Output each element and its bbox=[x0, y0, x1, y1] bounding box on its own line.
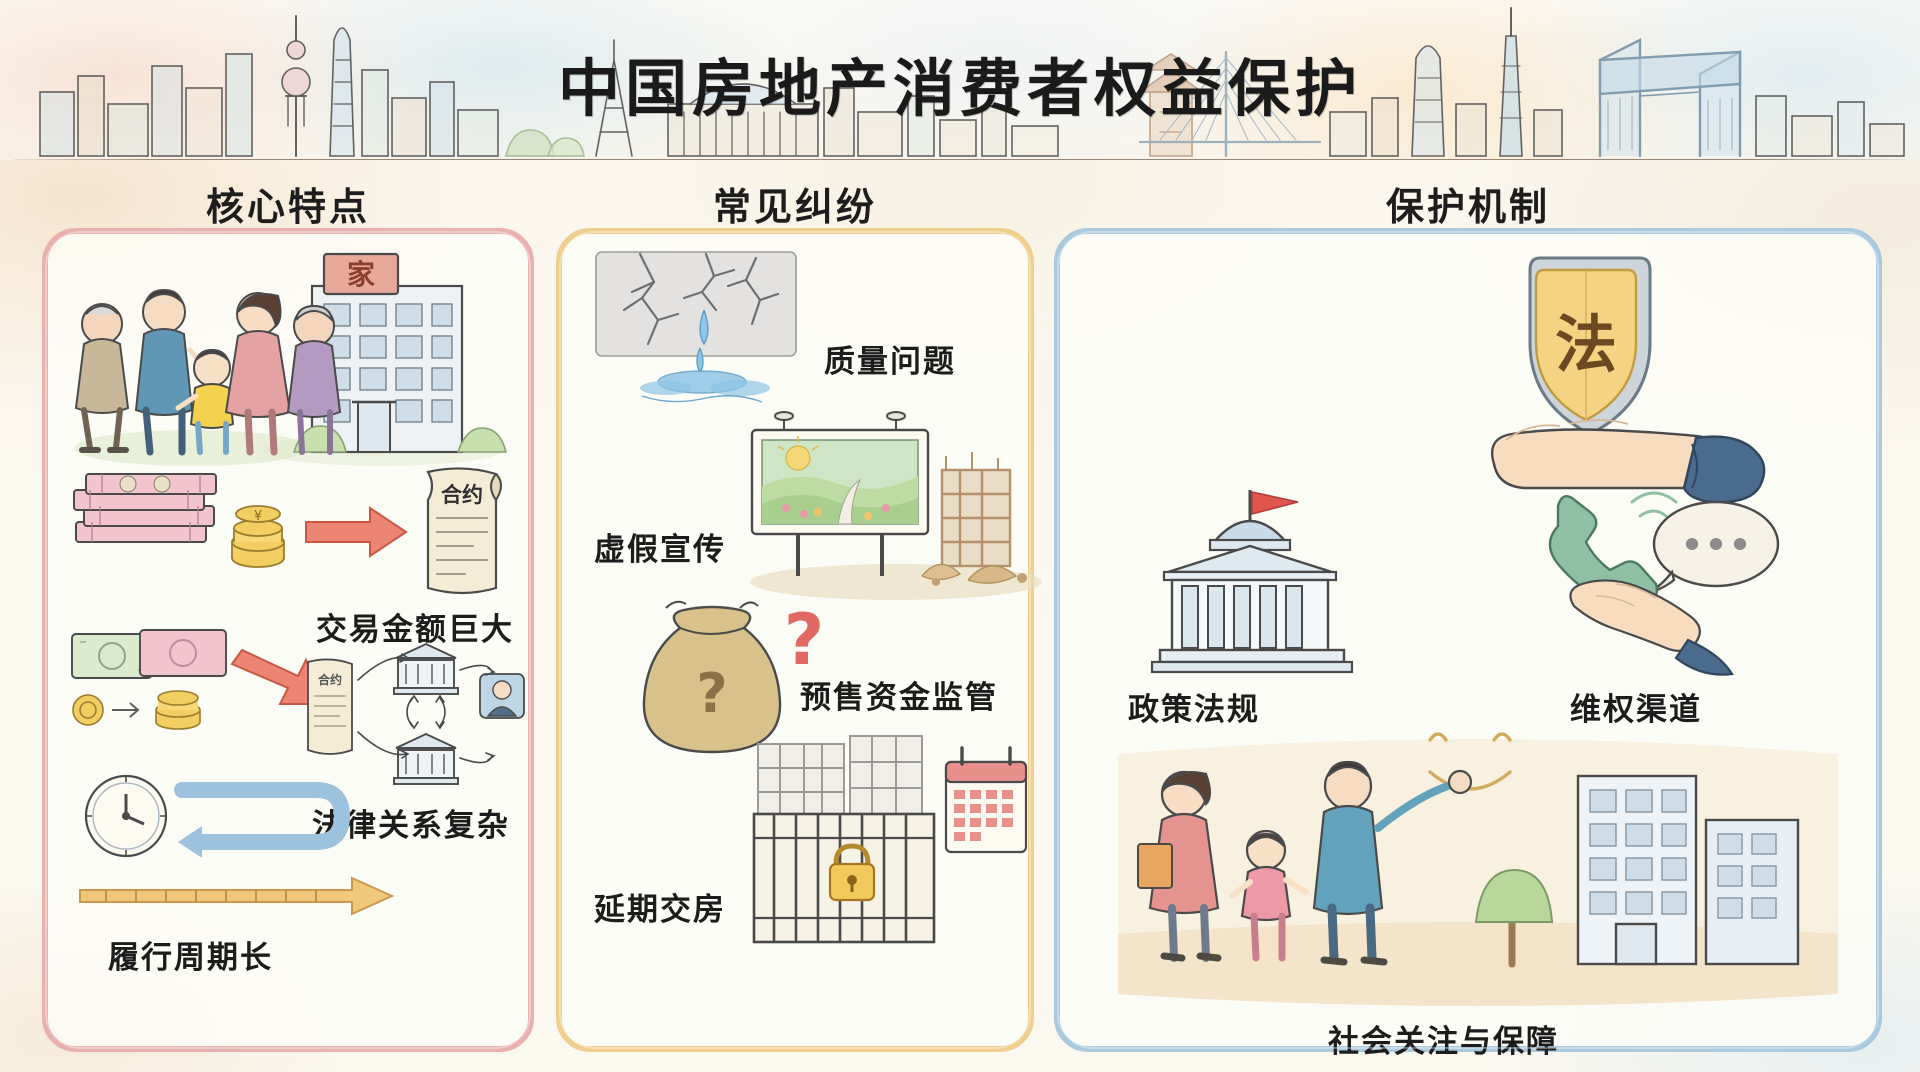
contract-scroll-text: 合约 bbox=[441, 483, 483, 507]
svg-text:¥: ¥ bbox=[254, 509, 262, 524]
panel-common-disputes: 质量问题 虚假宣传 bbox=[556, 228, 1034, 1052]
dispute-label-1: 虚假宣传 bbox=[594, 524, 726, 569]
holding-hand-icon bbox=[1570, 580, 1732, 674]
government-building-illustration bbox=[1116, 484, 1386, 684]
dispute-label-0: 质量问题 bbox=[824, 336, 956, 381]
shield-character: 法 bbox=[1555, 308, 1617, 381]
timeline-ruler bbox=[80, 878, 392, 914]
dispute-label-3: 延期交房 bbox=[594, 884, 726, 929]
infographic-page: 中国房地产消费者权益保护 核心特点 家 bbox=[0, 0, 1920, 1072]
hotline-phone-illustration bbox=[1520, 488, 1810, 688]
content-board: 核心特点 家 bbox=[0, 160, 1920, 1072]
red-arrow-right bbox=[306, 508, 406, 556]
column-heading-common-disputes: 常见纠纷 bbox=[556, 176, 1034, 231]
column-protection-mechanisms: 保护机制 法 bbox=[1054, 170, 1882, 1060]
building-sign-text: 家 bbox=[347, 258, 375, 291]
panel-core-features: 家 bbox=[42, 228, 534, 1052]
red-question-mark: ? bbox=[784, 599, 825, 681]
dispute-label-2: 预售资金监管 bbox=[800, 672, 998, 717]
page-title: 中国房地产消费者权益保护 bbox=[0, 38, 1920, 128]
column-heading-core-features: 核心特点 bbox=[42, 176, 534, 231]
protection-label-0: 政策法规 bbox=[1128, 684, 1260, 729]
clock-and-timeline-illustration bbox=[66, 764, 416, 924]
column-core-features: 核心特点 家 bbox=[42, 170, 534, 1060]
family-community-illustration bbox=[1108, 724, 1848, 1014]
protection-label-2: 社会关注与保障 bbox=[1328, 1016, 1559, 1061]
calendar-icon bbox=[946, 748, 1026, 852]
billboard-construction-illustration bbox=[746, 412, 1036, 600]
protection-label-1: 维权渠道 bbox=[1570, 684, 1702, 729]
svg-text:合约: 合约 bbox=[318, 672, 342, 687]
blue-loop-arrow bbox=[178, 790, 342, 858]
locked-gate-calendar-illustration bbox=[750, 734, 1030, 964]
money-stack-and-contract-illustration: ¥ 合约 bbox=[62, 466, 514, 608]
law-shield-icon: 法 bbox=[1530, 258, 1650, 434]
panel-protection-mechanisms: 法 bbox=[1054, 228, 1882, 1052]
signal-waves bbox=[1632, 493, 1676, 516]
core-feature-label-2: 履行周期长 bbox=[108, 932, 273, 977]
family-and-apartment-illustration: 家 bbox=[62, 250, 514, 470]
money-bag-question-mark: ? bbox=[696, 662, 727, 725]
column-common-disputes: 常见纠纷 bbox=[556, 170, 1034, 1060]
column-heading-protection-mechanisms: 保护机制 bbox=[1054, 176, 1882, 231]
shield-and-hand-illustration: 法 bbox=[1440, 248, 1780, 508]
header-band: 中国房地产消费者权益保护 bbox=[0, 0, 1920, 168]
contract-scroll: 合约 bbox=[428, 468, 501, 593]
cracked-wall-leak-illustration bbox=[586, 248, 816, 408]
